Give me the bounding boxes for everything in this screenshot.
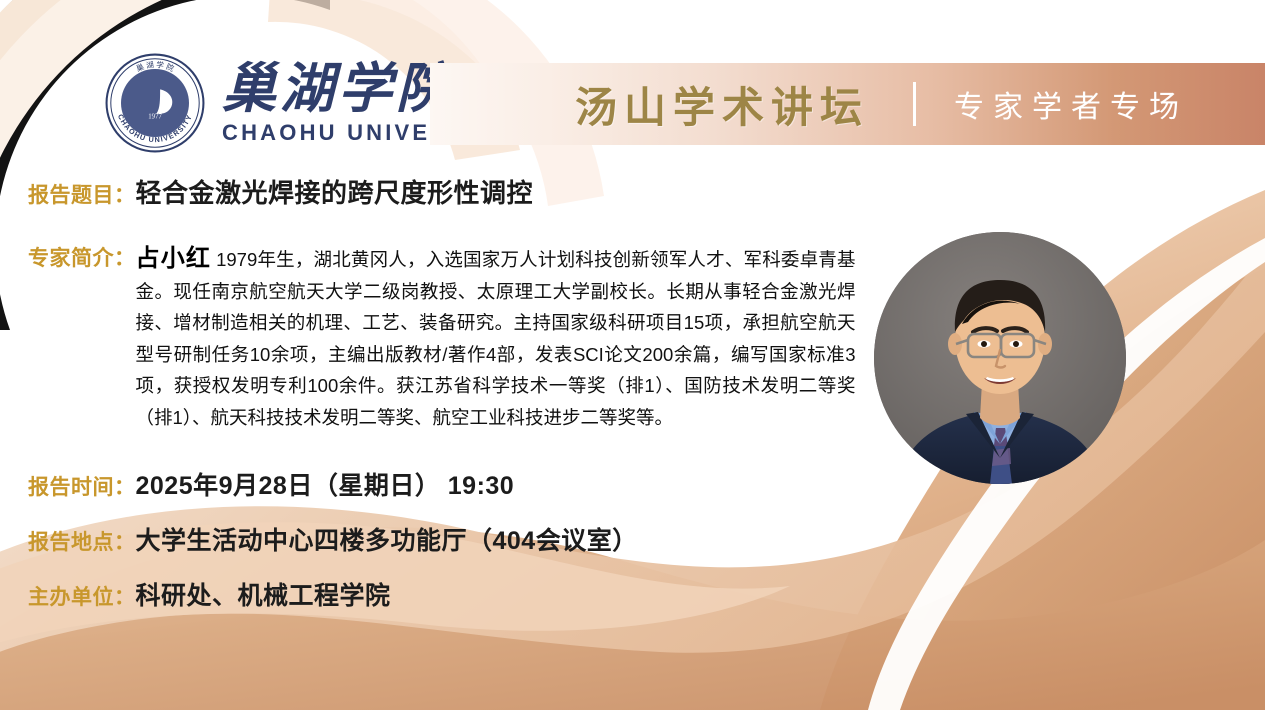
forum-banner-title: 汤山学术讲坛 [575,74,869,135]
speaker-portrait-image [874,232,1126,484]
speaker-bio-row: 专家简介： 占小红1979年生，湖北黄冈人，入选国家万人计划科技创新领军人才、军… [28,243,888,433]
speaker-bio-text: 1979年生，湖北黄冈人，入选国家万人计划科技创新领军人才、军科委卓青基金。现任… [136,249,856,428]
lecture-host-label: 主办单位： [28,581,136,611]
banner-divider [913,82,916,126]
svg-text:1977: 1977 [148,113,162,120]
lecture-time-label: 报告时间： [28,471,136,501]
lecture-place-label: 报告地点： [28,526,136,556]
lecture-title-row: 报告题目： 轻合金激光焊接的跨尺度形性调控 [28,179,533,209]
speaker-bio-label: 专家简介： [28,243,136,274]
lecture-title-label: 报告题目： [28,179,136,209]
speaker-portrait [874,232,1126,484]
speaker-name: 占小红 [136,245,217,272]
lecture-time-row: 报告时间： 2025年9月28日（星期日） 19:30 [28,466,514,502]
lecture-poster: 1977 巢 湖 学 院 CHAOHU UNIVERSITY 巢湖学院 CHAO… [0,0,1265,710]
forum-banner-subtitle: 专家学者专场 [954,82,1188,126]
chaohu-university-seal-icon: 1977 巢 湖 学 院 CHAOHU UNIVERSITY [104,52,206,154]
lecture-place-row: 报告地点： 大学生活动中心四楼多功能厅（404会议室） [28,521,638,557]
lecture-place-value: 大学生活动中心四楼多功能厅（404会议室） [136,521,638,557]
speaker-bio-body: 占小红1979年生，湖北黄冈人，入选国家万人计划科技创新领军人才、军科委卓青基金… [136,243,856,433]
forum-banner: 汤山学术讲坛 专家学者专场 [430,63,1265,145]
lecture-time-value: 2025年9月28日（星期日） 19:30 [136,466,515,502]
lecture-host-row: 主办单位： 科研处、机械工程学院 [28,576,391,612]
lecture-title-value: 轻合金激光焊接的跨尺度形性调控 [136,180,534,206]
lecture-host-value: 科研处、机械工程学院 [136,576,391,612]
